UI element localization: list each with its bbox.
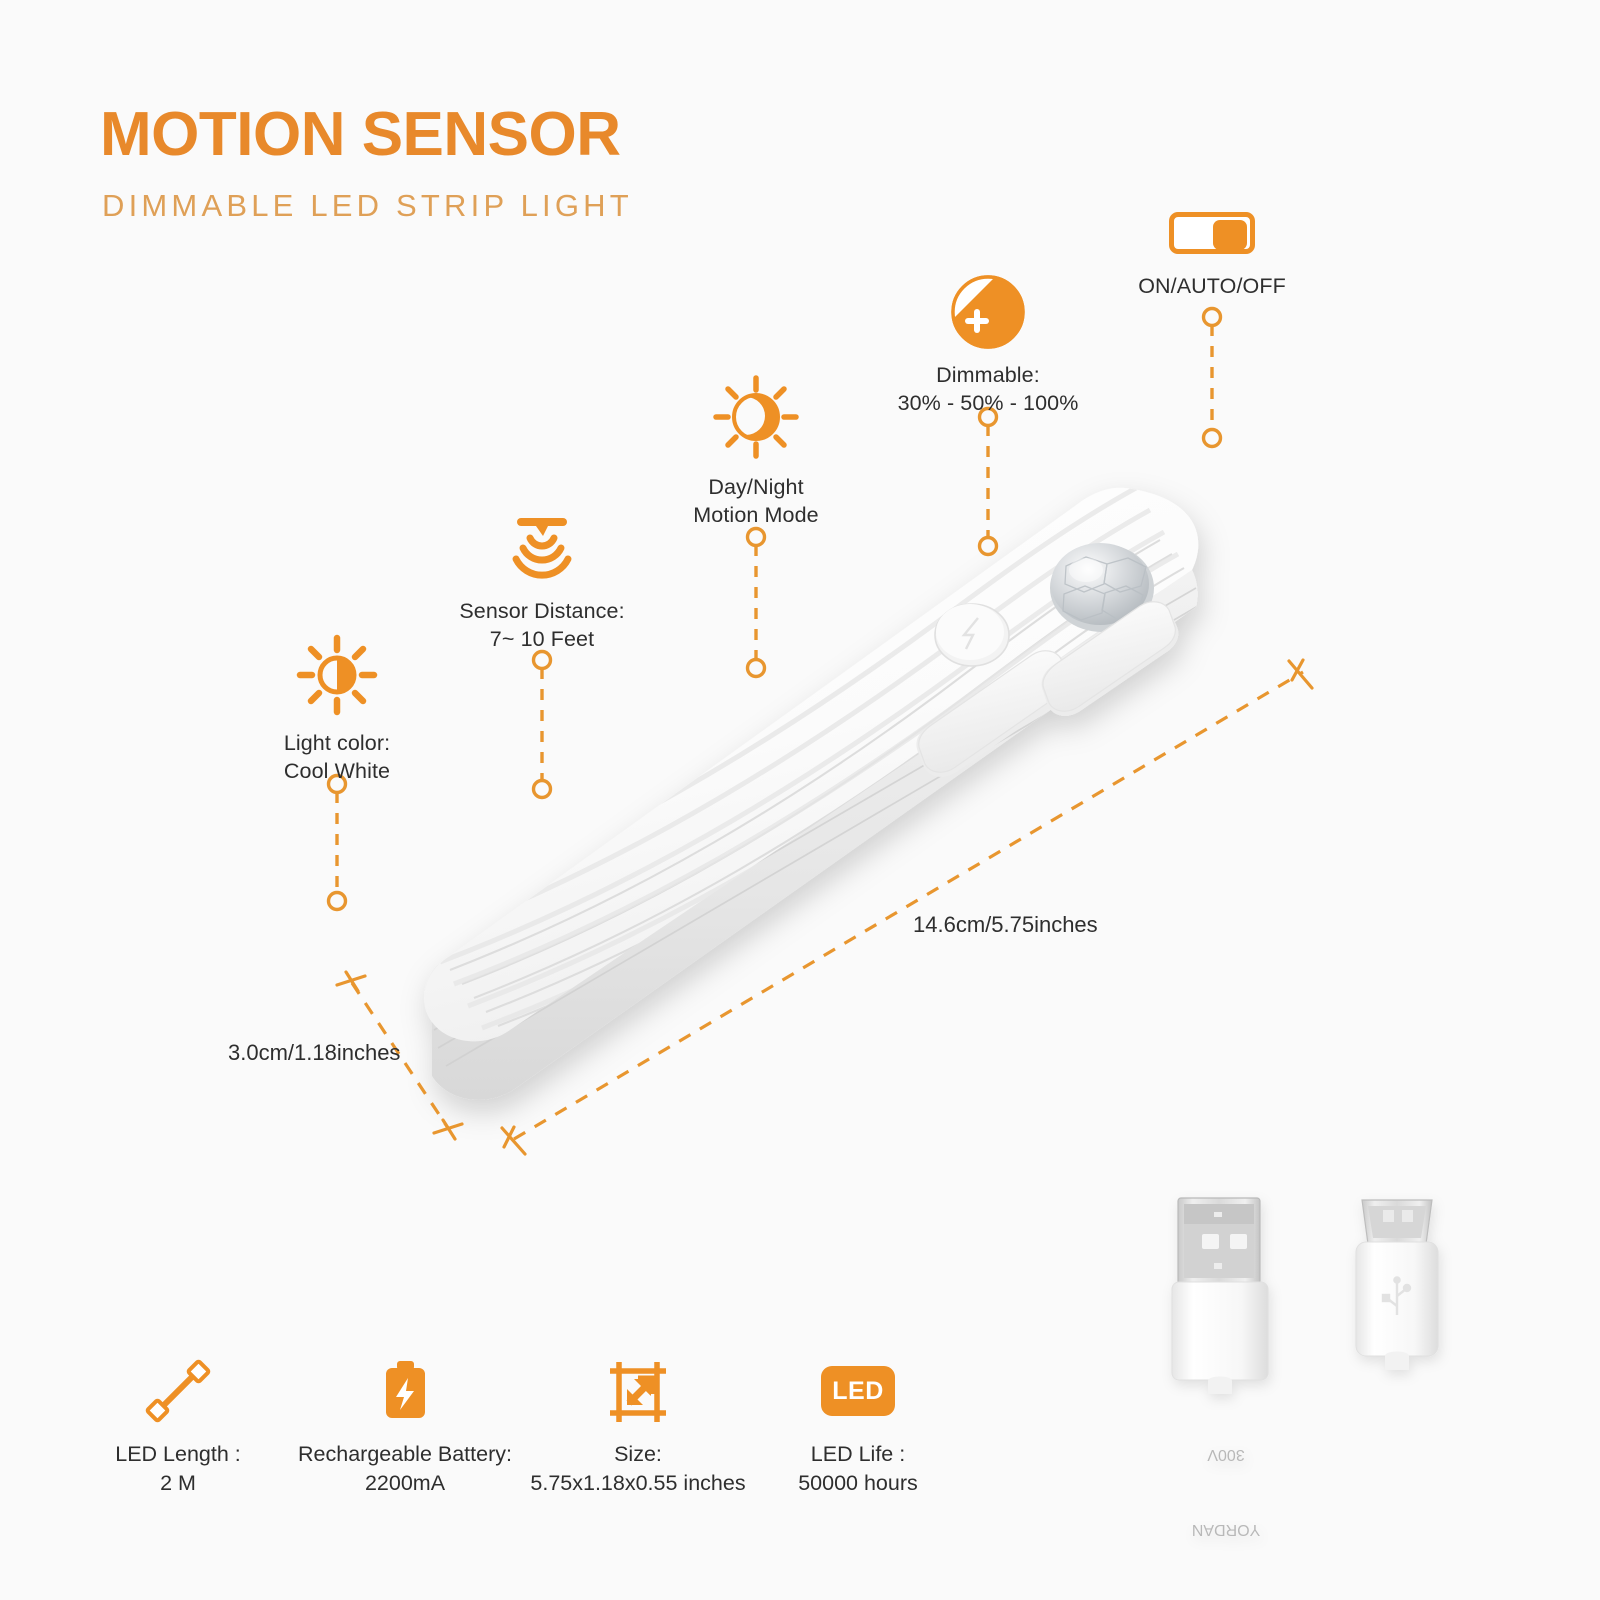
callout-day-night: Day/Night Motion Mode <box>641 372 871 530</box>
callout-dimmable: Dimmable: 30% - 50% - 100% <box>873 272 1103 418</box>
resize-frame-icon <box>598 1351 678 1431</box>
half-sun-icon <box>292 630 382 720</box>
callout-light-color-label: Light color: Cool White <box>222 729 452 786</box>
sun-moon-icon <box>710 372 802 464</box>
spec-led-length-label: LED Length : 2 M <box>63 1440 293 1498</box>
infographic-canvas: MOTION SENSOR DIMMABLE LED STRIP LIGHT <box>0 0 1600 1600</box>
callout-sensor-distance-label: Sensor Distance: 7~ 10 Feet <box>427 597 657 654</box>
battery-bolt-icon <box>367 1351 443 1431</box>
callout-on-auto-off: ON/AUTO/OFF <box>1097 212 1327 300</box>
callout-on-auto-off-label: ON/AUTO/OFF <box>1097 272 1327 300</box>
callout-dimmable-label: Dimmable: 30% - 50% - 100% <box>873 361 1103 418</box>
spec-led-life: LED LED Life : 50000 hours <box>718 1348 998 1498</box>
plus-minus-circle-icon <box>948 272 1028 352</box>
led-badge-icon: LED <box>821 1366 895 1416</box>
motion-waves-icon <box>497 508 587 588</box>
callout-day-night-label: Day/Night Motion Mode <box>641 473 871 530</box>
toggle-switch-icon[interactable] <box>1169 212 1255 254</box>
ruler-line-icon <box>140 1353 216 1429</box>
spec-led-length: LED Length : 2 M <box>63 1348 293 1498</box>
callout-light-color: Light color: Cool White <box>222 630 452 786</box>
toggle-knob <box>1213 220 1247 250</box>
callout-sensor-distance: Sensor Distance: 7~ 10 Feet <box>427 508 657 654</box>
spec-led-life-label: LED Life : 50000 hours <box>718 1440 998 1498</box>
